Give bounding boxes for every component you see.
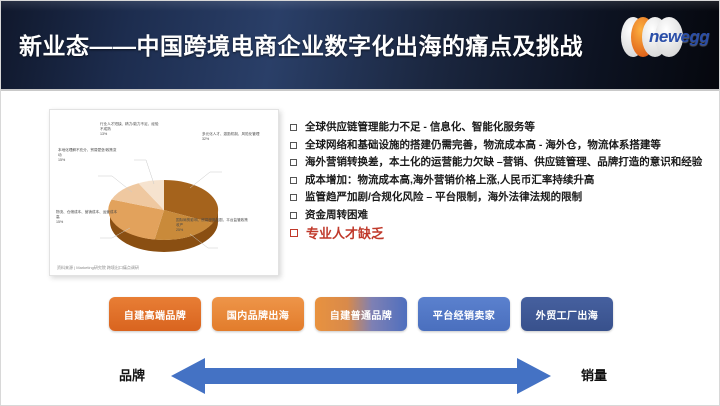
chart-source-caption: 资料来源 | Marketing研究院 跨境出口痛点调研 (57, 265, 139, 271)
page-title: 新业态——中国跨境电商企业数字化出海的痛点及挑战 (19, 27, 583, 61)
brand-volume-axis: 品牌 销量 (109, 353, 613, 399)
checkbox-bullet-icon (290, 159, 297, 166)
segment-button-label: 平台经销卖家 (433, 307, 495, 322)
list-item: 监管趋严加剧/合规化风险 – 平台限制，海外法律法规的限制 (290, 191, 715, 204)
list-item: 专业人才缺乏 (290, 226, 715, 242)
list-item-label: 资金周转困难 (305, 209, 368, 222)
list-item: 资金周转困难 (290, 209, 715, 222)
newegg-logo: newegg (619, 9, 711, 65)
slide-root: 新业态——中国跨境电商企业数字化出海的痛点及挑战 newegg (0, 0, 720, 406)
checkbox-bullet-icon (290, 142, 297, 149)
double-headed-arrow-icon (171, 357, 551, 395)
list-item-label: 全球供应链管理能力不足 - 信息化、智能化服务等 (305, 121, 535, 134)
segment-button-3[interactable]: 平台经销卖家 (418, 297, 510, 331)
logo-wordmark: newegg (649, 27, 709, 47)
pain-points-list: 全球供应链管理能力不足 - 信息化、智能化服务等全球网络和基础设施的搭建仍需完善… (290, 121, 715, 247)
checkbox-bullet-icon (290, 177, 297, 184)
list-item-label: 全球网络和基础设施的搭建仍需完善，物流成本高 - 海外仓，物流体系搭建等 (305, 139, 661, 152)
checkbox-bullet-icon (290, 212, 297, 219)
list-item-label: 海外营销转换差，本土化的运营能力欠缺 –营销、供应链管理、品牌打造的意识和经验 (305, 156, 702, 169)
segment-button-label: 自建普通品牌 (330, 307, 392, 322)
checkbox-bullet-icon (290, 194, 297, 201)
list-item: 全球供应链管理能力不足 - 信息化、智能化服务等 (290, 121, 715, 134)
pie-label-3: 本地化理解不充分、贸易壁垒/政策变动 15% (58, 148, 118, 164)
pie-chart-card: 多元化人才、激励机制、风险化管理 32% 国际局势影响、贸易摩擦加剧、平台监管政… (49, 109, 279, 276)
list-item-label: 专业人才缺乏 (306, 226, 384, 242)
list-item-label: 监管趋严加剧/合规化风险 – 平台限制，海外法律法规的限制 (305, 191, 582, 204)
segment-button-1[interactable]: 国内品牌出海 (212, 297, 304, 331)
axis-label-brand: 品牌 (119, 365, 145, 384)
list-item: 全球网络和基础设施的搭建仍需完善，物流成本高 - 海外仓，物流体系搭建等 (290, 139, 715, 152)
axis-label-volume: 销量 (581, 365, 607, 384)
pie-label-2: 物流、仓储成本、营销成本、运营成本高 15% (56, 210, 118, 226)
list-item: 海外营销转换差，本土化的运营能力欠缺 –营销、供应链管理、品牌打造的意识和经验 (290, 156, 715, 169)
segment-button-0[interactable]: 自建高端品牌 (109, 297, 201, 331)
pie-label-4: 行业人才短缺、精力/能力不足、经验不成熟 13% (100, 122, 160, 138)
segment-button-label: 外贸工厂出海 (536, 307, 598, 322)
segment-button-4[interactable]: 外贸工厂出海 (521, 297, 613, 331)
segment-button-2[interactable]: 自建普通品牌 (315, 297, 407, 331)
list-item-label: 成本增加：物流成本高,海外营销价格上涨,人民币汇率持续升高 (305, 174, 594, 187)
checkbox-bullet-icon (290, 229, 298, 237)
pie-label-0: 多元化人才、激励机制、风险化管理 32% (202, 132, 266, 142)
list-item: 成本增加：物流成本高,海外营销价格上涨,人民币汇率持续升高 (290, 174, 715, 187)
pie-label-1: 国际局势影响、贸易摩擦加剧、平台监管政策收严 25% (176, 218, 248, 234)
segment-button-row: 自建高端品牌国内品牌出海自建普通品牌平台经销卖家外贸工厂出海 (109, 297, 613, 331)
slide-header: 新业态——中国跨境电商企业数字化出海的痛点及挑战 newegg (1, 1, 720, 91)
segment-button-label: 国内品牌出海 (227, 307, 289, 322)
segment-button-label: 自建高端品牌 (124, 307, 186, 322)
checkbox-bullet-icon (290, 124, 297, 131)
